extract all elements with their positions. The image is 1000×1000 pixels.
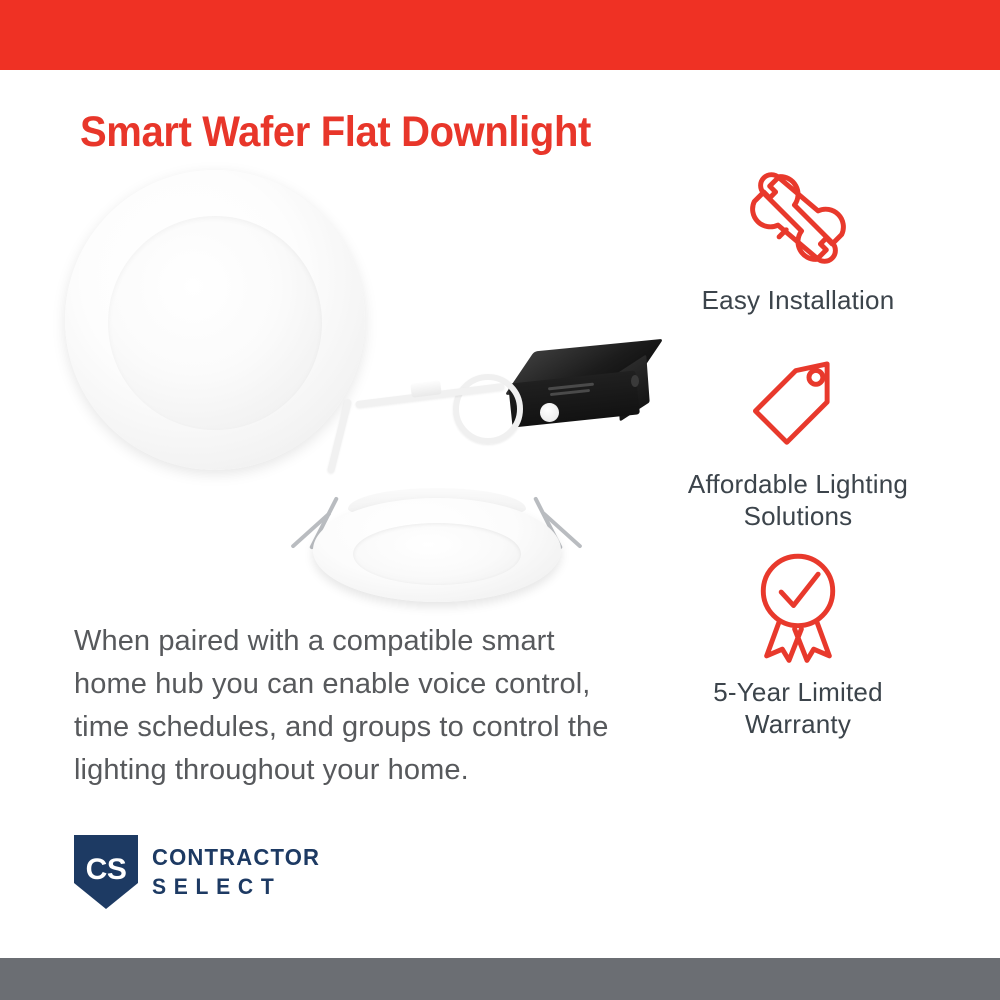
wafer-downlight-large bbox=[65, 170, 365, 470]
logo-line-contractor: CONTRACTOR bbox=[152, 844, 320, 871]
wafer-downlight-with-clips bbox=[298, 460, 578, 620]
feature-easy-installation: Easy Installation bbox=[648, 158, 948, 316]
header-accent-band bbox=[0, 0, 1000, 70]
product-image bbox=[55, 160, 675, 610]
footer-band bbox=[0, 958, 1000, 1000]
cs-monogram: CS bbox=[86, 853, 127, 886]
feature-list: Easy Installation Affordable Lighting So… bbox=[648, 158, 948, 762]
contractor-select-logo: CS CONTRACTOR SELECT bbox=[74, 833, 294, 911]
feature-affordable-lighting: Affordable Lighting Solutions bbox=[648, 342, 948, 532]
logo-wordmark: CONTRACTOR SELECT bbox=[152, 844, 327, 900]
feature-label: Easy Installation bbox=[648, 284, 948, 316]
page-title: Smart Wafer Flat Downlight bbox=[80, 108, 591, 157]
feature-label-line2: Warranty bbox=[648, 708, 948, 740]
junction-box-grommet bbox=[540, 403, 559, 422]
body-copy: When paired with a compatible smart home… bbox=[74, 620, 634, 792]
cs-shield-icon: CS bbox=[74, 835, 138, 909]
wafer-downlight-large-lens bbox=[108, 216, 322, 430]
logo-line-select: SELECT bbox=[152, 874, 320, 900]
junction-box-knockout bbox=[631, 375, 639, 387]
feature-warranty: 5-Year Limited Warranty bbox=[648, 550, 948, 740]
product-feature-card: Smart Wafer Flat Downlight bbox=[0, 0, 1000, 1000]
award-ribbon-check-icon bbox=[648, 550, 948, 670]
feature-label-line1: 5-Year Limited bbox=[648, 676, 948, 708]
feature-label-line2: Solutions bbox=[648, 500, 948, 532]
wrench-screwdriver-icon bbox=[648, 158, 948, 278]
price-tag-icon bbox=[648, 342, 948, 462]
wafer-downlight-small bbox=[313, 498, 561, 602]
feature-label-line1: Affordable Lighting bbox=[648, 468, 948, 500]
wafer-downlight-small-lens bbox=[353, 523, 521, 585]
